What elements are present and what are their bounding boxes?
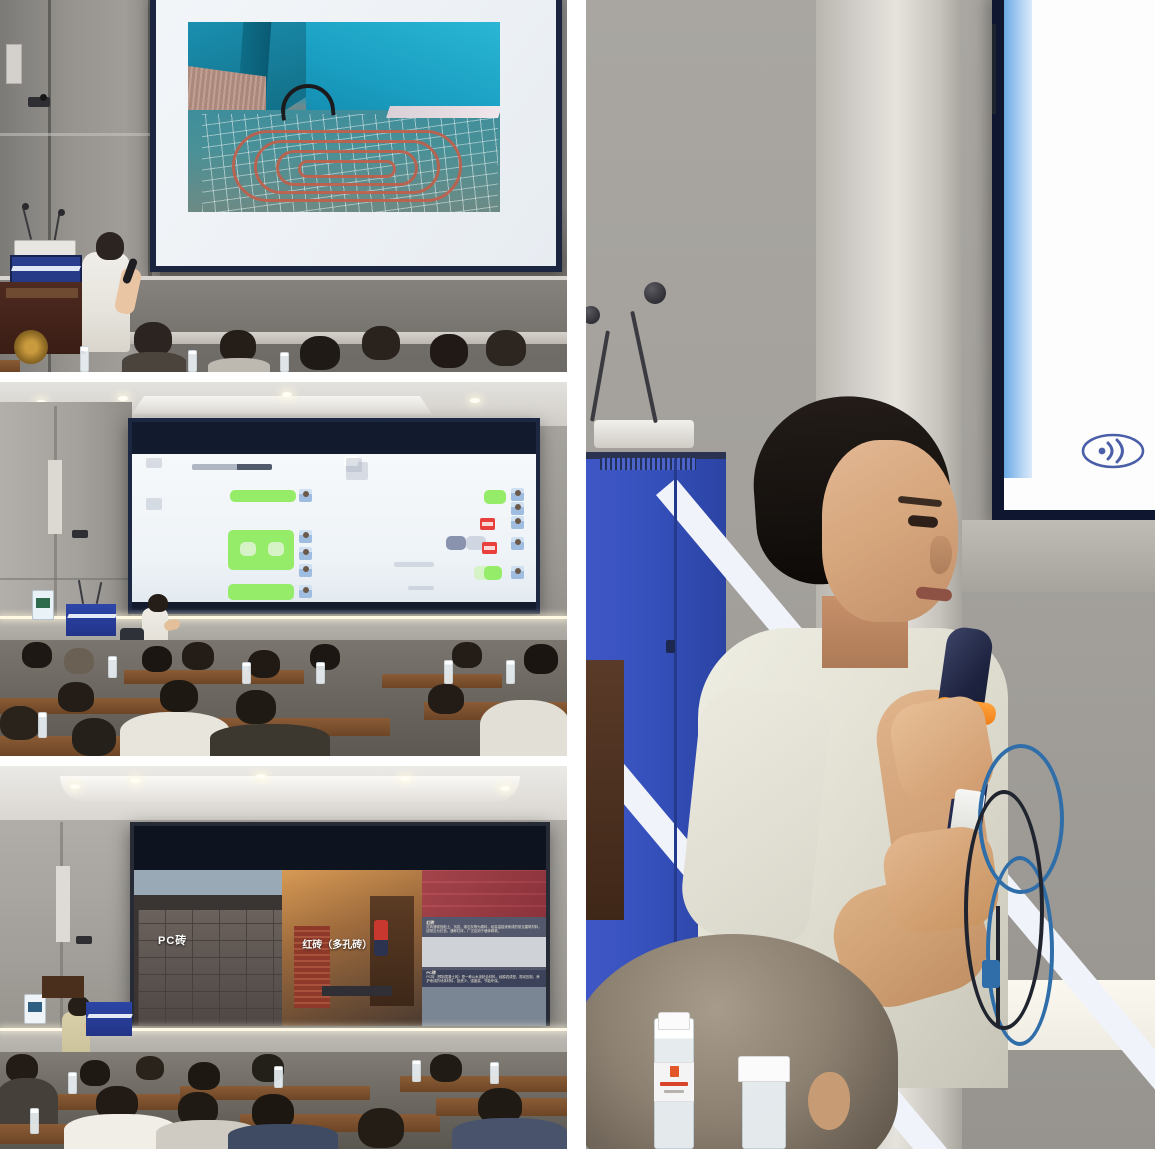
- contact-avatar: [511, 566, 524, 579]
- audio-amplifier: [14, 240, 76, 256]
- camera-lens-icon: [40, 94, 47, 101]
- audience-rows: [0, 1052, 567, 1149]
- audience-head: [236, 690, 276, 724]
- red-brick-closeup: [422, 870, 546, 917]
- work-table: [322, 986, 392, 996]
- lectern: [586, 660, 624, 920]
- audience-shoulders: [210, 724, 330, 756]
- worker-figure: [374, 920, 388, 956]
- audience-head: [358, 1108, 404, 1148]
- contact-avatar: [299, 564, 312, 577]
- ceiling-downlight: [470, 398, 480, 403]
- slide-column-pc-brick: PC砖: [134, 870, 282, 1026]
- slide-photo-underfloor-heating: [188, 22, 500, 212]
- slide-column-captions: 红砖 红砖通常指粘土、页岩、煤石灰等为原料，经高温焙烧而成的常见建筑材料，因常见…: [422, 870, 546, 1026]
- presenter-head: [148, 594, 168, 612]
- lectern-emblem: [14, 330, 48, 364]
- chat-ghost-element: [146, 458, 162, 468]
- speaker-sleeve: [677, 684, 832, 946]
- collage-photo-1[interactable]: [0, 0, 567, 372]
- water-bottle: [242, 662, 251, 684]
- ceiling-downlight: [130, 778, 140, 783]
- lectern-plaque: [6, 288, 78, 298]
- chat-bubble: [484, 490, 506, 504]
- audience-head: [182, 642, 214, 670]
- led-video-wall[interactable]: [128, 418, 540, 614]
- chat-bubble: [228, 530, 294, 570]
- projection-screen[interactable]: [150, 0, 562, 272]
- ceiling-downlight: [256, 774, 266, 779]
- cabinet-stripe: [87, 1014, 133, 1018]
- audience-head: [72, 718, 116, 756]
- cove-lighting: [60, 776, 520, 802]
- cabinet-stripe: [67, 614, 117, 618]
- desk: [0, 360, 20, 372]
- ceiling-cove: [132, 396, 432, 414]
- contact-avatar: [299, 547, 312, 560]
- slide-heating-pipe: [298, 160, 396, 178]
- bottle-cap: [658, 1012, 690, 1030]
- foreground-audience-ear: [808, 1072, 850, 1130]
- water-bottle: [274, 1066, 283, 1088]
- wall-camera-icon: [72, 530, 88, 538]
- display-side-band: [1004, 0, 1032, 478]
- audience-shoulders: [122, 352, 186, 372]
- contact-avatar: [511, 516, 524, 529]
- chat-bubble: [230, 490, 296, 502]
- ceiling-downlight: [400, 776, 410, 781]
- water-bottle: [38, 712, 47, 738]
- audience-head: [452, 642, 482, 668]
- microphone-cable: [964, 790, 1044, 1030]
- bottle-sub-text: [664, 1090, 684, 1093]
- wall-panel: [962, 520, 1155, 592]
- chat-ghost-element: [146, 498, 162, 510]
- audience-head: [486, 330, 526, 366]
- cabinet-vent: [600, 458, 696, 470]
- slide-column-red-brick: 红砖（多孔砖）: [282, 870, 422, 1026]
- pdf-attachment: [482, 542, 497, 554]
- audience-head: [430, 1054, 462, 1082]
- audience-shoulders: [452, 1118, 567, 1149]
- ceiling-downlight: [282, 392, 292, 397]
- audience-shoulders: [0, 1078, 58, 1124]
- terminal-screen: [28, 1002, 42, 1012]
- audience-head: [58, 682, 94, 712]
- blue-equipment-cabinet: [66, 604, 116, 636]
- ceiling-downlight: [118, 396, 128, 401]
- desk: [400, 1076, 567, 1092]
- audience-head: [0, 706, 40, 740]
- chat-title-bar: [192, 464, 272, 470]
- sound-icon: [1080, 430, 1146, 472]
- microphone-icon: [58, 209, 65, 216]
- contact-avatar: [299, 585, 312, 598]
- chat-bubble-inner: [240, 542, 256, 556]
- audience-head: [160, 680, 198, 712]
- collage-photo-3[interactable]: PC砖 红砖（多孔砖） 红砖 红砖通常指粘土、页岩、煤石灰等为原料，经高温焙烧而…: [0, 766, 567, 1149]
- slide-label-red-brick: 红砖（多孔砖）: [302, 936, 372, 951]
- audience-head: [22, 642, 52, 668]
- ceiling-downlight: [500, 786, 510, 791]
- water-bottle: [68, 1072, 77, 1094]
- caption-red-brick: 红砖 红砖通常指粘土、页岩、煤石灰等为原料，经高温焙烧而成的常见建筑材料，因常见…: [422, 917, 546, 937]
- audience-head: [134, 322, 172, 356]
- ceiling-downlight: [70, 784, 80, 789]
- water-bottle: [280, 352, 289, 372]
- audience-head: [300, 336, 340, 370]
- presenter-head: [96, 232, 124, 260]
- audience-head: [142, 646, 172, 672]
- wall-camera-icon: [76, 936, 92, 944]
- collage-photo-2[interactable]: [0, 382, 567, 756]
- contact-avatar: [511, 537, 524, 550]
- bottle-brand-logo: [670, 1066, 679, 1077]
- wall-display[interactable]: [992, 0, 1155, 522]
- microphone-icon: [22, 203, 29, 210]
- chat-ghost-text: [408, 586, 434, 590]
- audience-head: [524, 644, 558, 674]
- water-bottle: [506, 660, 515, 684]
- wall-trim: [0, 133, 160, 136]
- concrete-blocks-photo: [138, 910, 282, 1026]
- caption-text: 红砖通常指粘土、页岩、煤石灰等为原料，经高温焙烧而成的常见建筑材料，因常见为红色…: [426, 925, 542, 934]
- slide-label-pc-brick: PC砖: [158, 932, 187, 948]
- bottle-brand-text: [660, 1082, 688, 1086]
- audience-rows: [0, 640, 567, 756]
- cabinet-lock-icon: [666, 640, 675, 653]
- material-comparison-slide: PC砖 红砖（多孔砖） 红砖 红砖通常指粘土、页岩、煤石灰等为原料，经高温焙烧而…: [134, 870, 546, 1026]
- wall-plate: [48, 460, 62, 534]
- collage-photo-4[interactable]: [586, 0, 1155, 1149]
- water-bottle: [30, 1108, 39, 1134]
- lectern: [42, 976, 84, 998]
- display-screen: [1004, 0, 1155, 510]
- chat-ghost-element: [346, 458, 362, 472]
- caption-pc-brick: PC砖 PC砖（预制混凝土砖）是一种以水泥粘合材料，经模具成型、振动压制、养护而…: [422, 967, 546, 987]
- chat-bubble-inner: [268, 542, 284, 556]
- chat-screenshot: [132, 454, 536, 602]
- bottle-cap: [738, 1056, 790, 1082]
- contact-avatar: [511, 502, 524, 515]
- wall-seam: [0, 578, 132, 580]
- water-bottle: [412, 1060, 421, 1082]
- water-bottle: [444, 660, 453, 684]
- control-desk-unit: [594, 420, 694, 448]
- hanging-cable: [992, 24, 996, 114]
- microphone-icon: [644, 282, 666, 304]
- wall-plate: [6, 44, 22, 84]
- photo-collage: PC砖 红砖（多孔砖） 红砖 红砖通常指粘土、页岩、煤石灰等为原料，经高温焙烧而…: [0, 0, 1155, 1149]
- pdf-attachment: [480, 518, 495, 530]
- slide-insulation-panel: [386, 106, 500, 118]
- chat-bubble: [484, 566, 502, 580]
- water-bottle: [108, 656, 117, 678]
- audience-head: [80, 1060, 110, 1086]
- water-bottle: [316, 662, 325, 684]
- water-bottle: [188, 350, 197, 372]
- chat-ghost-text: [394, 562, 434, 567]
- audience-head: [136, 1056, 164, 1080]
- water-bottle: [80, 346, 89, 372]
- audience-head: [310, 644, 340, 670]
- contact-avatar: [511, 488, 524, 501]
- chat-bubble: [446, 536, 466, 550]
- audience-head: [248, 650, 280, 678]
- chat-bubble: [228, 584, 294, 600]
- water-bottle: [490, 1062, 499, 1084]
- audience-head: [362, 326, 400, 360]
- audience-head: [428, 684, 464, 714]
- blue-equipment-cabinet: [86, 1002, 132, 1036]
- led-video-wall[interactable]: PC砖 红砖（多孔砖） 红砖 红砖通常指粘土、页岩、煤石灰等为原料，经高温焙烧而…: [130, 822, 550, 1026]
- caption-text: PC砖（预制混凝土砖）是一种以水泥粘合材料，经模具成型、振动压制、养护而成的块体…: [426, 975, 542, 984]
- cable-connector: [982, 960, 1000, 988]
- contact-avatar: [299, 489, 312, 502]
- terminal-screen: [36, 598, 50, 608]
- audience-shoulders: [480, 700, 567, 756]
- cabinet-stripe: [11, 266, 81, 271]
- audience-head: [64, 648, 94, 674]
- audience-head: [188, 1062, 220, 1090]
- audience-shoulders: [228, 1124, 338, 1149]
- contact-avatar: [299, 530, 312, 543]
- audience-head: [430, 334, 468, 368]
- wall-plate: [56, 866, 70, 942]
- audience-shoulders: [208, 358, 270, 372]
- slide-wall-right: [306, 22, 500, 118]
